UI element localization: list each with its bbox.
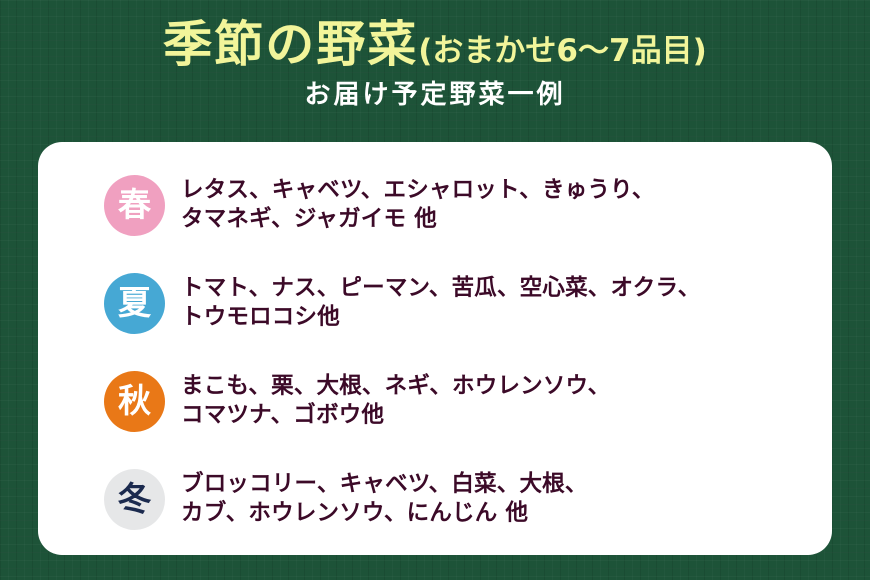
season-row-spring: 春 レタス、キャベツ、エシャロット、きゅうり、 タマネギ、ジャガイモ 他 — [38, 156, 832, 254]
season-badge-summer: 夏 — [104, 273, 165, 334]
season-row-winter: 冬 ブロッコリー、キャベツ、白菜、大根、 カブ、ホウレンソウ、にんじん 他 — [38, 450, 832, 548]
seasons-card: 春 レタス、キャベツ、エシャロット、きゅうり、 タマネギ、ジャガイモ 他 夏 ト… — [38, 142, 832, 555]
season-badge-label-summer: 夏 — [118, 286, 151, 319]
poster-root: 季節の野菜 (おまかせ6〜7品目) お届け予定野菜一例 春 レタス、キャベツ、エ… — [0, 0, 870, 580]
season-vegetables-spring: レタス、キャベツ、エシャロット、きゅうり、 タマネギ、ジャガイモ 他 — [181, 176, 655, 235]
season-vegetables-winter: ブロッコリー、キャベツ、白菜、大根、 カブ、ホウレンソウ、にんじん 他 — [181, 470, 588, 529]
poster-header: 季節の野菜 (おまかせ6〜7品目) お届け予定野菜一例 — [0, 0, 870, 108]
season-badge-winter: 冬 — [104, 469, 165, 530]
season-vegetables-autumn-line2: コマツナ、ゴボウ他 — [181, 401, 610, 430]
season-vegetables-spring-line2: タマネギ、ジャガイモ 他 — [181, 205, 655, 234]
page-title: 季節の野菜 (おまかせ6〜7品目) — [0, 20, 870, 69]
season-row-summer: 夏 トマト、ナス、ピーマン、苦瓜、空心菜、オクラ、 トウモロコシ他 — [38, 254, 832, 352]
seasons-list: 春 レタス、キャベツ、エシャロット、きゅうり、 タマネギ、ジャガイモ 他 夏 ト… — [38, 156, 832, 548]
season-badge-label-autumn: 秋 — [118, 384, 151, 417]
season-badge-spring: 春 — [104, 175, 165, 236]
season-badge-label-spring: 春 — [118, 188, 151, 221]
season-vegetables-winter-line2: カブ、ホウレンソウ、にんじん 他 — [181, 499, 588, 528]
season-badge-label-winter: 冬 — [118, 482, 151, 515]
season-vegetables-summer-line2: トウモロコシ他 — [181, 303, 700, 332]
season-vegetables-spring-line1: レタス、キャベツ、エシャロット、きゅうり、 — [181, 177, 655, 203]
season-vegetables-autumn: まこも、栗、大根、ネギ、ホウレンソウ、 コマツナ、ゴボウ他 — [181, 372, 610, 431]
page-subtitle: お届け予定野菜一例 — [0, 82, 870, 108]
season-vegetables-summer: トマト、ナス、ピーマン、苦瓜、空心菜、オクラ、 トウモロコシ他 — [181, 274, 700, 333]
title-main-text: 季節の野菜 — [163, 20, 418, 69]
season-row-autumn: 秋 まこも、栗、大根、ネギ、ホウレンソウ、 コマツナ、ゴボウ他 — [38, 352, 832, 450]
season-badge-autumn: 秋 — [104, 371, 165, 432]
title-sub-text: (おまかせ6〜7品目) — [418, 36, 706, 67]
season-vegetables-autumn-line1: まこも、栗、大根、ネギ、ホウレンソウ、 — [181, 373, 610, 399]
season-vegetables-winter-line1: ブロッコリー、キャベツ、白菜、大根、 — [181, 471, 588, 497]
season-vegetables-summer-line1: トマト、ナス、ピーマン、苦瓜、空心菜、オクラ、 — [181, 275, 700, 301]
